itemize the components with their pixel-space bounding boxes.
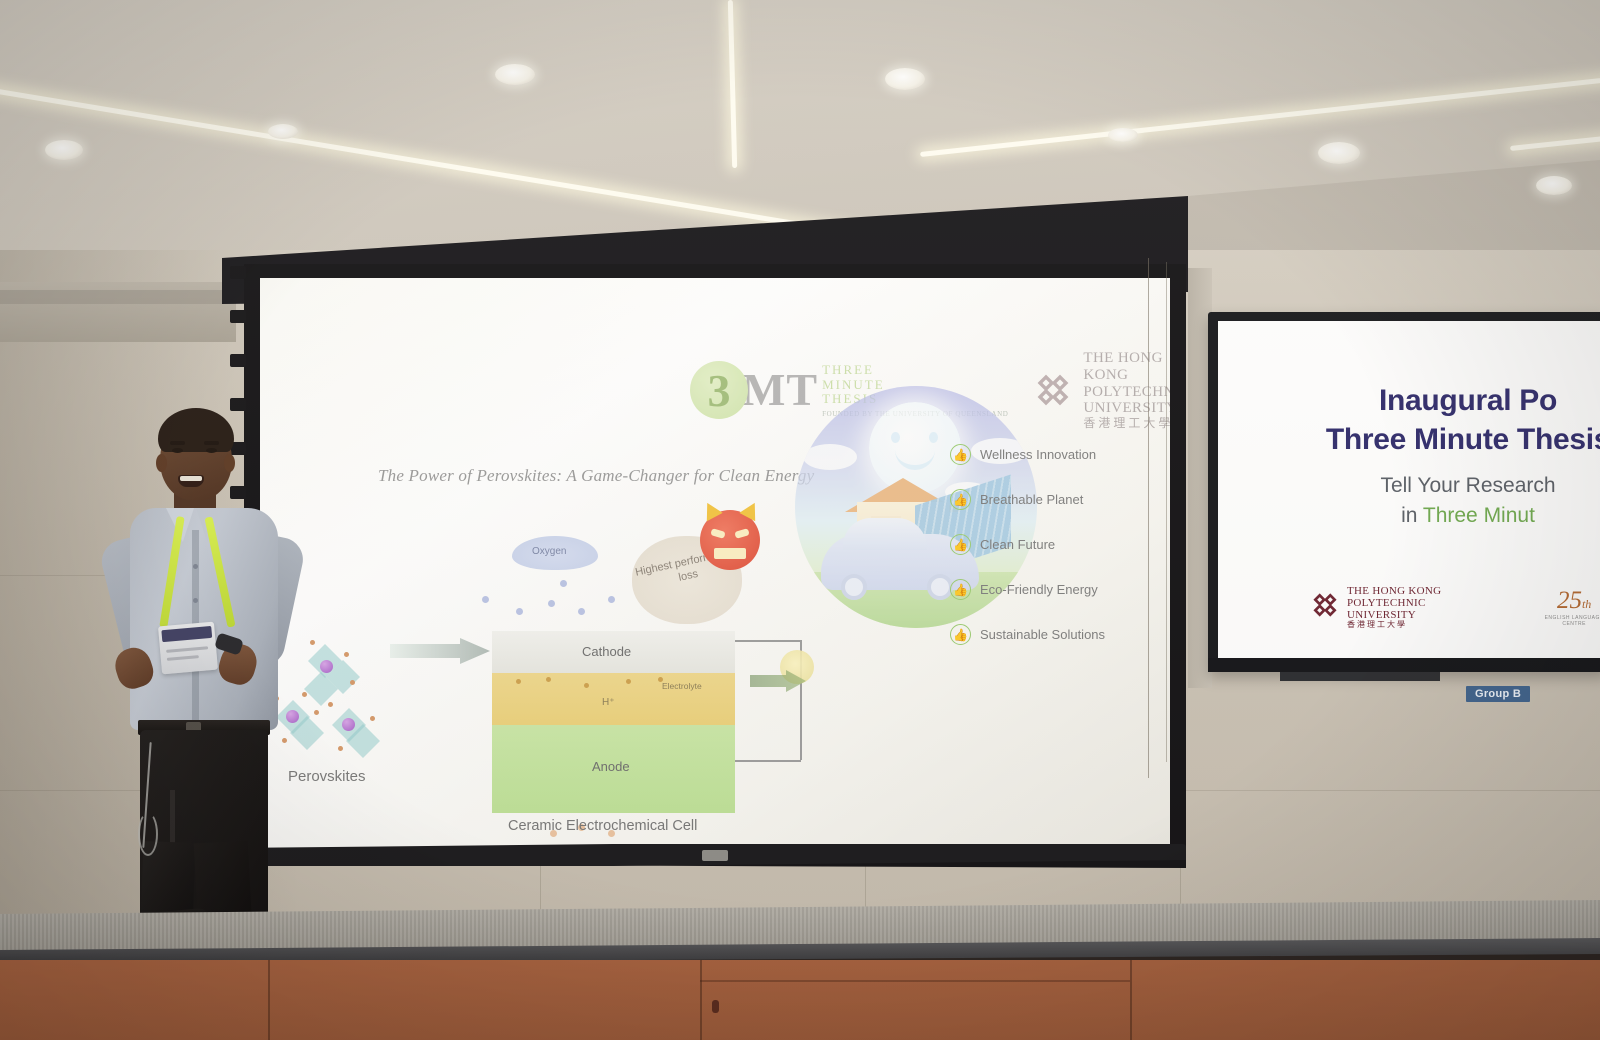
tv-title-line2: Three Minute Thesis [1326,423,1600,456]
list-item: 👍 Clean Future [950,534,1105,555]
tv-polyu-line1: THE HONG KONG [1347,585,1460,597]
circuit-wire [735,640,801,642]
stage-front-cabinets [0,960,1600,1040]
ear [156,454,167,472]
logo-polyu: THE HONG KONG POLYTECHNIC UNIVERSITY 香港理… [1032,350,1170,431]
tv-subtitle: Tell Your Research in Three Minut [1258,471,1600,532]
tv-footer-logos: THE HONG KONG POLYTECHNIC UNIVERSITY 香港理… [1310,585,1600,630]
polyu-line2: POLYTECHNIC UNIVERSITY [1083,384,1170,418]
presenter [108,412,308,932]
cell-caption: Ceramic Electrochemical Cell [508,818,697,834]
tv-polyu-line3: 香港理工大學 [1347,621,1460,630]
downlight-icon [885,68,925,90]
electrochemical-cell-stack: Cathode Electrolyte H⁺ Anode [492,631,735,815]
downlight-icon [268,124,298,139]
anniversary-number: 25th [1540,588,1600,613]
electrolyte-label: Electrolyte [662,681,702,691]
wall-display: Inaugural Po Three Minute Thesis Tell Yo… [1208,312,1600,672]
presenter-mouth [178,475,204,487]
polyu-knot-icon [1032,369,1074,411]
tv-screen-content: Inaugural Po Three Minute Thesis Tell Yo… [1218,321,1600,658]
anode-label: Anode [592,759,630,774]
oxygen-label: Oxygen [532,546,566,557]
polyu-line3: 香港理工大學 [1083,417,1170,430]
benefit-label: Sustainable Solutions [980,627,1105,642]
tv-bezel [1208,658,1600,672]
flow-arrow-icon [390,638,490,664]
cathode-label: Cathode [582,644,631,659]
polyu-line1: THE HONG KONG [1083,350,1170,384]
tv-subtitle-accent: Three Minut [1423,504,1535,527]
thumbs-up-icon: 👍 [950,489,971,510]
list-item: 👍 Eco-Friendly Energy [950,579,1105,600]
anniversary-caption: ENGLISH LANGUAGE CENTRE [1540,615,1600,627]
ear [224,454,235,472]
slide-title: The Power of Perovskites: A Game-Changer… [378,466,814,486]
tv-subtitle-line1: Tell Your Research [1380,474,1555,497]
downlight-icon [495,64,535,85]
polyu-knot-icon [1310,590,1340,625]
downlight-icon [1318,142,1360,164]
downlight-icon [1108,128,1138,142]
presenter-hair [158,408,234,452]
logo-3mt-word-three: THREE [822,363,1008,378]
tv-title-line1: Inaugural Po [1379,384,1557,417]
microphone-cable-loop [138,812,158,856]
list-item: 👍 Breathable Planet [950,489,1105,510]
screen-clasp [702,850,728,861]
projection-screen: 3 MT THREE MINUTE THESIS FOUNDED BY THE … [222,196,1188,816]
thumbs-up-icon: 👍 [950,624,971,645]
tv-title: Inaugural Po Three Minute Thesis [1258,381,1600,459]
angry-face-icon [700,510,760,570]
thumbs-up-icon: 👍 [950,444,971,465]
tv-subtitle-prefix: in [1401,504,1423,527]
proton-label: H⁺ [602,697,615,708]
downlight-icon [1536,176,1572,195]
list-item: 👍 Sustainable Solutions [950,624,1105,645]
downlight-icon [45,140,83,160]
tv-wall-mount [1280,672,1440,681]
circuit-wire [735,760,801,762]
benefit-label: Breathable Planet [980,492,1083,507]
benefit-label: Wellness Innovation [980,447,1096,462]
tv-polyu-line2: POLYTECHNIC UNIVERSITY [1347,597,1460,621]
benefit-label: Clean Future [980,537,1055,552]
logo-3mt-numeral: 3 [690,361,748,419]
lecture-room-photo: 3 MT THREE MINUTE THESIS FOUNDED BY THE … [0,0,1600,1040]
thumbs-up-icon: 👍 [950,579,971,600]
name-badge [158,622,218,675]
left-wall-panel-shadow [0,290,236,304]
anniversary-logo: 25th ENGLISH LANGUAGE CENTRE [1540,588,1600,627]
presenter-shirt [130,508,278,730]
anniversary-ordinal: th [1582,597,1591,611]
tv-logo-polyu: THE HONG KONG POLYTECHNIC UNIVERSITY 香港理… [1310,585,1460,630]
benefit-label: Eco-Friendly Energy [980,582,1098,597]
logo-3mt-letters: MT [742,367,818,413]
screen-cord [1166,262,1167,762]
group-label-sign: Group B [1466,686,1530,702]
projected-slide: 3 MT THREE MINUTE THESIS FOUNDED BY THE … [260,278,1170,856]
benefits-list: 👍 Wellness Innovation 👍 Breathable Plane… [950,444,1105,669]
thumbs-up-icon: 👍 [950,534,971,555]
list-item: 👍 Wellness Innovation [950,444,1105,465]
screen-cord [1148,258,1149,778]
